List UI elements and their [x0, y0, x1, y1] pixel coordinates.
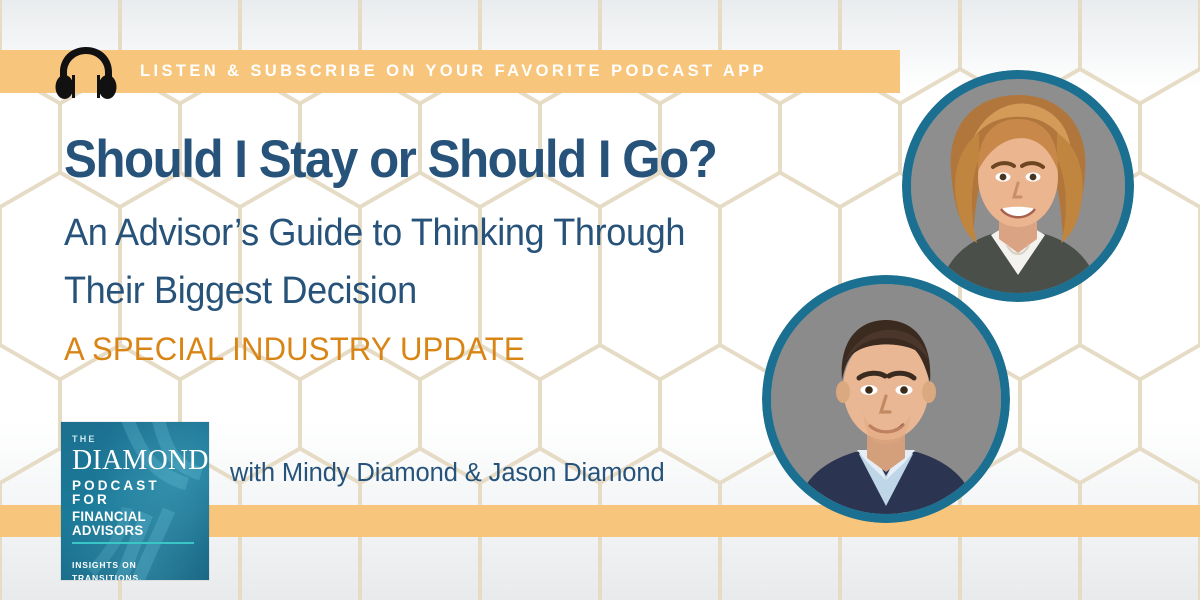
avatar-jason-diamond — [762, 275, 1010, 523]
host-byline: with Mindy Diamond & Jason Diamond — [230, 461, 665, 487]
podcast-logo: THE DIAMOND PODCAST FOR FINANCIAL ADVISO… — [61, 422, 209, 580]
portrait-illustration-jason — [771, 284, 1001, 514]
subtitle-line-2: Their Biggest Decision — [64, 272, 881, 310]
logo-divider — [72, 542, 194, 544]
headphones-icon — [55, 44, 117, 102]
logo-the-text: THE — [72, 435, 198, 444]
portrait-illustration-mindy — [911, 79, 1125, 293]
page-title: Should I Stay or Should I Go? — [64, 133, 827, 186]
subscribe-banner-label: LISTEN & SUBSCRIBE ON YOUR FAVORITE PODC… — [140, 50, 900, 93]
avatar-mindy-diamond — [902, 70, 1134, 302]
subtitle-line-1: An Advisor’s Guide to Thinking Through — [64, 214, 881, 252]
logo-tagline-line-1: INSIGHTS ON TRANSITIONS, — [72, 559, 198, 580]
logo-diamond-wordmark: DIAMOND — [72, 447, 198, 475]
special-update-label: A SPECIAL INDUSTRY UPDATE — [64, 333, 525, 365]
avatar-jason-photo — [771, 284, 1001, 514]
avatar-mindy-photo — [911, 79, 1125, 293]
logo-podcast-for-text: PODCAST FOR — [72, 479, 198, 506]
logo-tagline: INSIGHTS ON TRANSITIONS, INDEPENDENCE AN… — [72, 559, 198, 580]
logo-financial-advisors-text: FINANCIAL ADVISORS — [72, 510, 195, 537]
podcast-promo-graphic: LISTEN & SUBSCRIBE ON YOUR FAVORITE PODC… — [0, 0, 1200, 600]
